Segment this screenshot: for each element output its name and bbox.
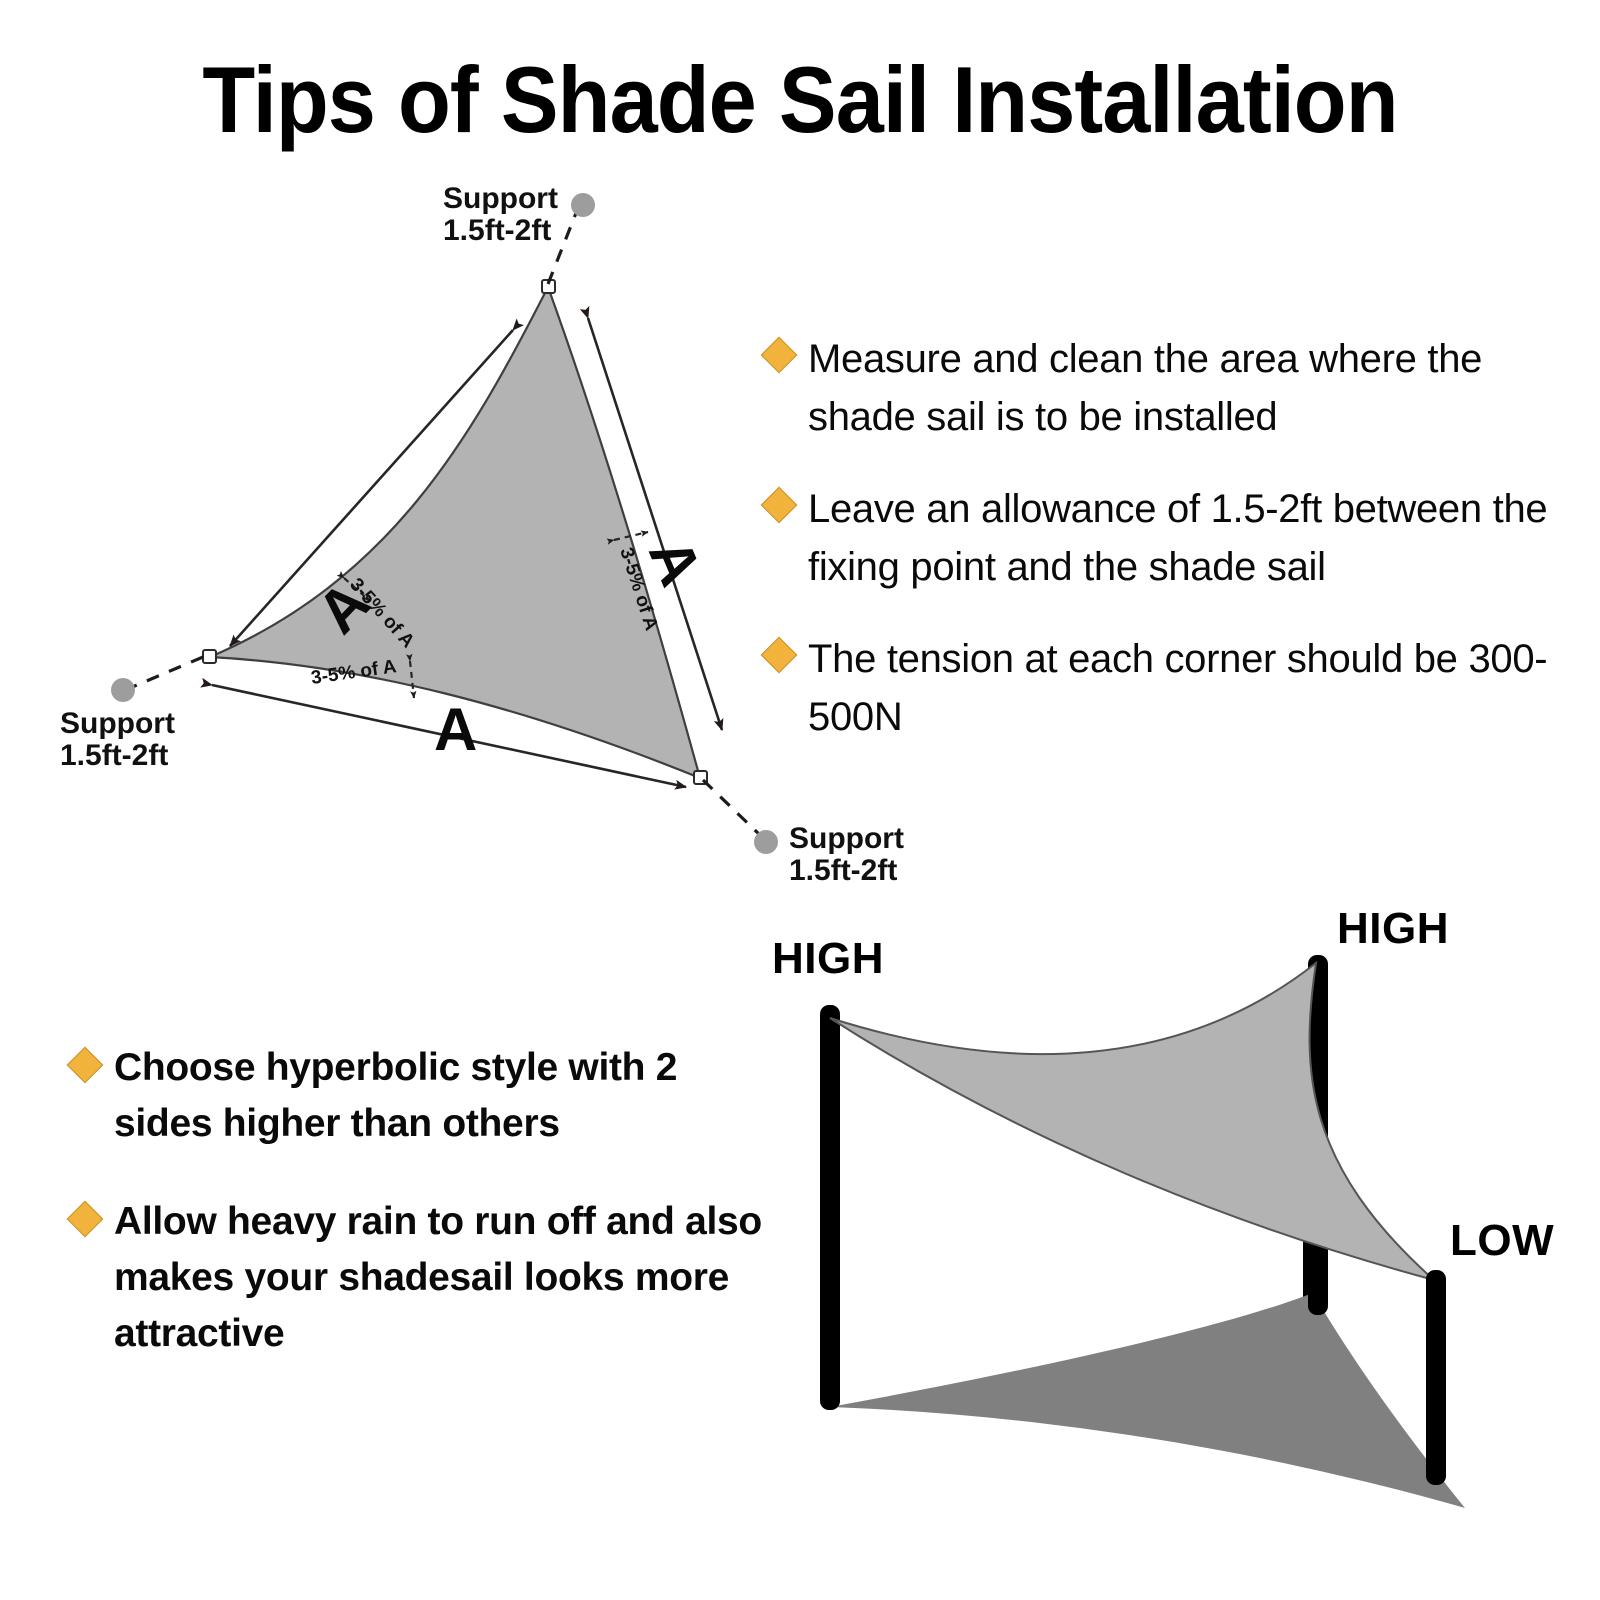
support-label-bottom-right: Support 1.5ft-2ft [789, 822, 904, 887]
list-item-label: Leave an allowance of 1.5-2ft between th… [808, 480, 1556, 596]
diamond-bullet-icon [67, 1201, 104, 1238]
post-left-high [820, 1005, 840, 1410]
list-item-label: Allow heavy rain to run off and also mak… [114, 1194, 782, 1362]
list-item: The tension at each corner should be 300… [766, 630, 1556, 746]
post-right-low [1426, 1270, 1446, 1485]
svg-text:1.5ft-2ft: 1.5ft-2ft [443, 214, 551, 247]
post-label-right-low: LOW [1450, 1216, 1554, 1265]
support-dot-bottom-left [111, 678, 135, 702]
hyperbolic-sail-diagram: HIGH HIGH LOW [760, 895, 1600, 1555]
list-item-label: Measure and clean the area where the sha… [808, 330, 1556, 446]
svg-text:Support: Support [443, 182, 558, 215]
support-dot-top [571, 193, 595, 217]
post-label-right-high: HIGH [1337, 904, 1449, 953]
list-item-label: The tension at each corner should be 300… [808, 630, 1556, 746]
dimension-label-bottom-A: A [434, 696, 477, 763]
installation-tips-list-left: Choose hyperbolic style with 2 sides hig… [72, 1040, 782, 1404]
svg-text:1.5ft-2ft: 1.5ft-2ft [789, 854, 897, 887]
list-item: Allow heavy rain to run off and also mak… [72, 1194, 782, 1362]
page-title: Tips of Shade Sail Installation [64, 48, 1536, 152]
support-dot-bottom-right [754, 830, 778, 854]
diamond-bullet-icon [761, 637, 798, 674]
support-leader-top [548, 208, 578, 284]
list-item-label: Choose hyperbolic style with 2 sides hig… [114, 1040, 782, 1152]
diamond-bullet-icon [761, 337, 798, 374]
support-label-top: Support 1.5ft-2ft [443, 182, 558, 247]
list-item: Leave an allowance of 1.5-2ft between th… [766, 480, 1556, 596]
list-item: Choose hyperbolic style with 2 sides hig… [72, 1040, 782, 1152]
hyperbolic-sail-shape [830, 963, 1434, 1280]
sail-shadow [830, 1293, 1465, 1508]
corner-ring-bottom-left [203, 650, 216, 663]
post-label-left-high: HIGH [772, 934, 884, 983]
svg-text:Support: Support [60, 707, 175, 740]
installation-tips-list-right: Measure and clean the area where the sha… [766, 330, 1556, 780]
svg-text:Support: Support [789, 822, 904, 855]
list-item: Measure and clean the area where the sha… [766, 330, 1556, 446]
svg-text:1.5ft-2ft: 1.5ft-2ft [60, 739, 168, 772]
diamond-bullet-icon [67, 1047, 104, 1084]
support-label-bottom-left: Support 1.5ft-2ft [60, 707, 175, 772]
support-leader-bottom-right [703, 780, 762, 837]
support-leader-bottom-left [130, 657, 203, 688]
diamond-bullet-icon [761, 487, 798, 524]
